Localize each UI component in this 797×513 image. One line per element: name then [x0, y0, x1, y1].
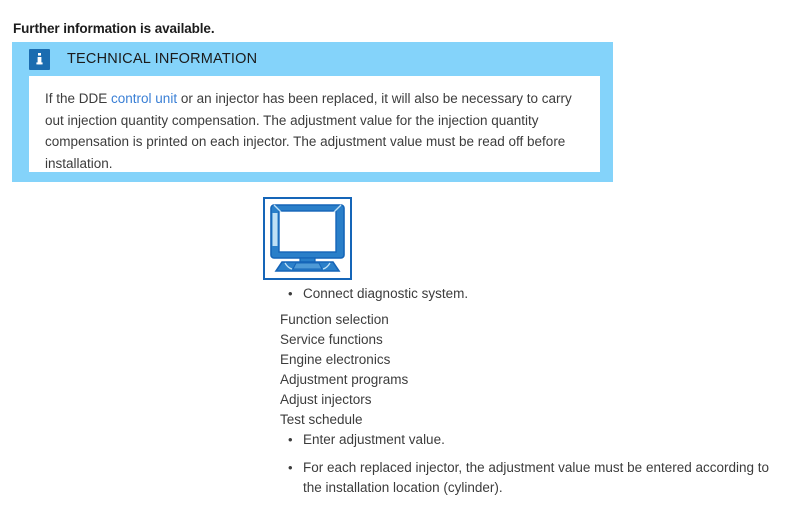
technical-information-body: If the DDE control unit or an injector h…	[29, 76, 600, 172]
spacer	[280, 450, 785, 458]
procedure-bullet-connect: Connect diagnostic system.	[280, 284, 785, 304]
procedure-list: Connect diagnostic system. Function sele…	[280, 284, 785, 498]
procedure-bullet-enter-value: Enter adjustment value.	[280, 430, 785, 450]
info-icon	[29, 49, 50, 70]
computer-monitor-icon	[263, 197, 352, 280]
menu-path-item-1: Service functions	[280, 330, 785, 350]
control-unit-link[interactable]: control unit	[111, 91, 177, 106]
intro-text: Further information is available.	[13, 21, 215, 36]
menu-path-item-5: Test schedule	[280, 410, 785, 430]
menu-path-item-3: Adjustment programs	[280, 370, 785, 390]
menu-path-item-4: Adjust injectors	[280, 390, 785, 410]
technical-information-paragraph: If the DDE control unit or an injector h…	[45, 88, 584, 174]
technical-information-header: TECHNICAL INFORMATION	[12, 42, 613, 76]
technical-information-title: TECHNICAL INFORMATION	[67, 51, 257, 67]
procedure-bullet-each-injector: For each replaced injector, the adjustme…	[280, 458, 785, 498]
menu-path-item-0: Function selection	[280, 310, 785, 330]
paragraph-text-before-link: If the DDE	[45, 91, 111, 106]
menu-path-item-2: Engine electronics	[280, 350, 785, 370]
technical-information-panel: TECHNICAL INFORMATION If the DDE control…	[12, 42, 613, 182]
